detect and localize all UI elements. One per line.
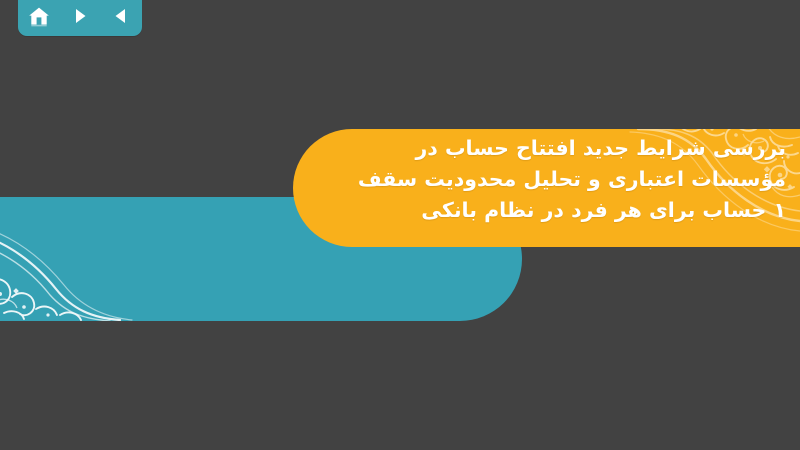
slide-canvas: بررسی شرایط جدید افتتاح حساب در مؤسسات ا… <box>0 0 800 450</box>
triangle-right-icon <box>70 6 90 26</box>
back-button[interactable] <box>107 3 135 29</box>
arabesque-corner-ornament <box>0 197 160 321</box>
triangle-left-icon <box>111 6 131 26</box>
title-line-2: مؤسسات اعتباری و تحلیل محدودیت سقف <box>316 164 786 195</box>
orange-title-panel: بررسی شرایط جدید افتتاح حساب در مؤسسات ا… <box>293 129 800 247</box>
slide-title: بررسی شرایط جدید افتتاح حساب در مؤسسات ا… <box>316 133 786 226</box>
navigation-bar <box>18 0 142 36</box>
home-icon <box>28 6 50 27</box>
title-line-3: ۱ حساب برای هر فرد در نظام بانکی <box>316 195 786 226</box>
home-button[interactable] <box>25 3 53 29</box>
forward-button[interactable] <box>66 3 94 29</box>
title-line-1: بررسی شرایط جدید افتتاح حساب در <box>316 133 786 164</box>
